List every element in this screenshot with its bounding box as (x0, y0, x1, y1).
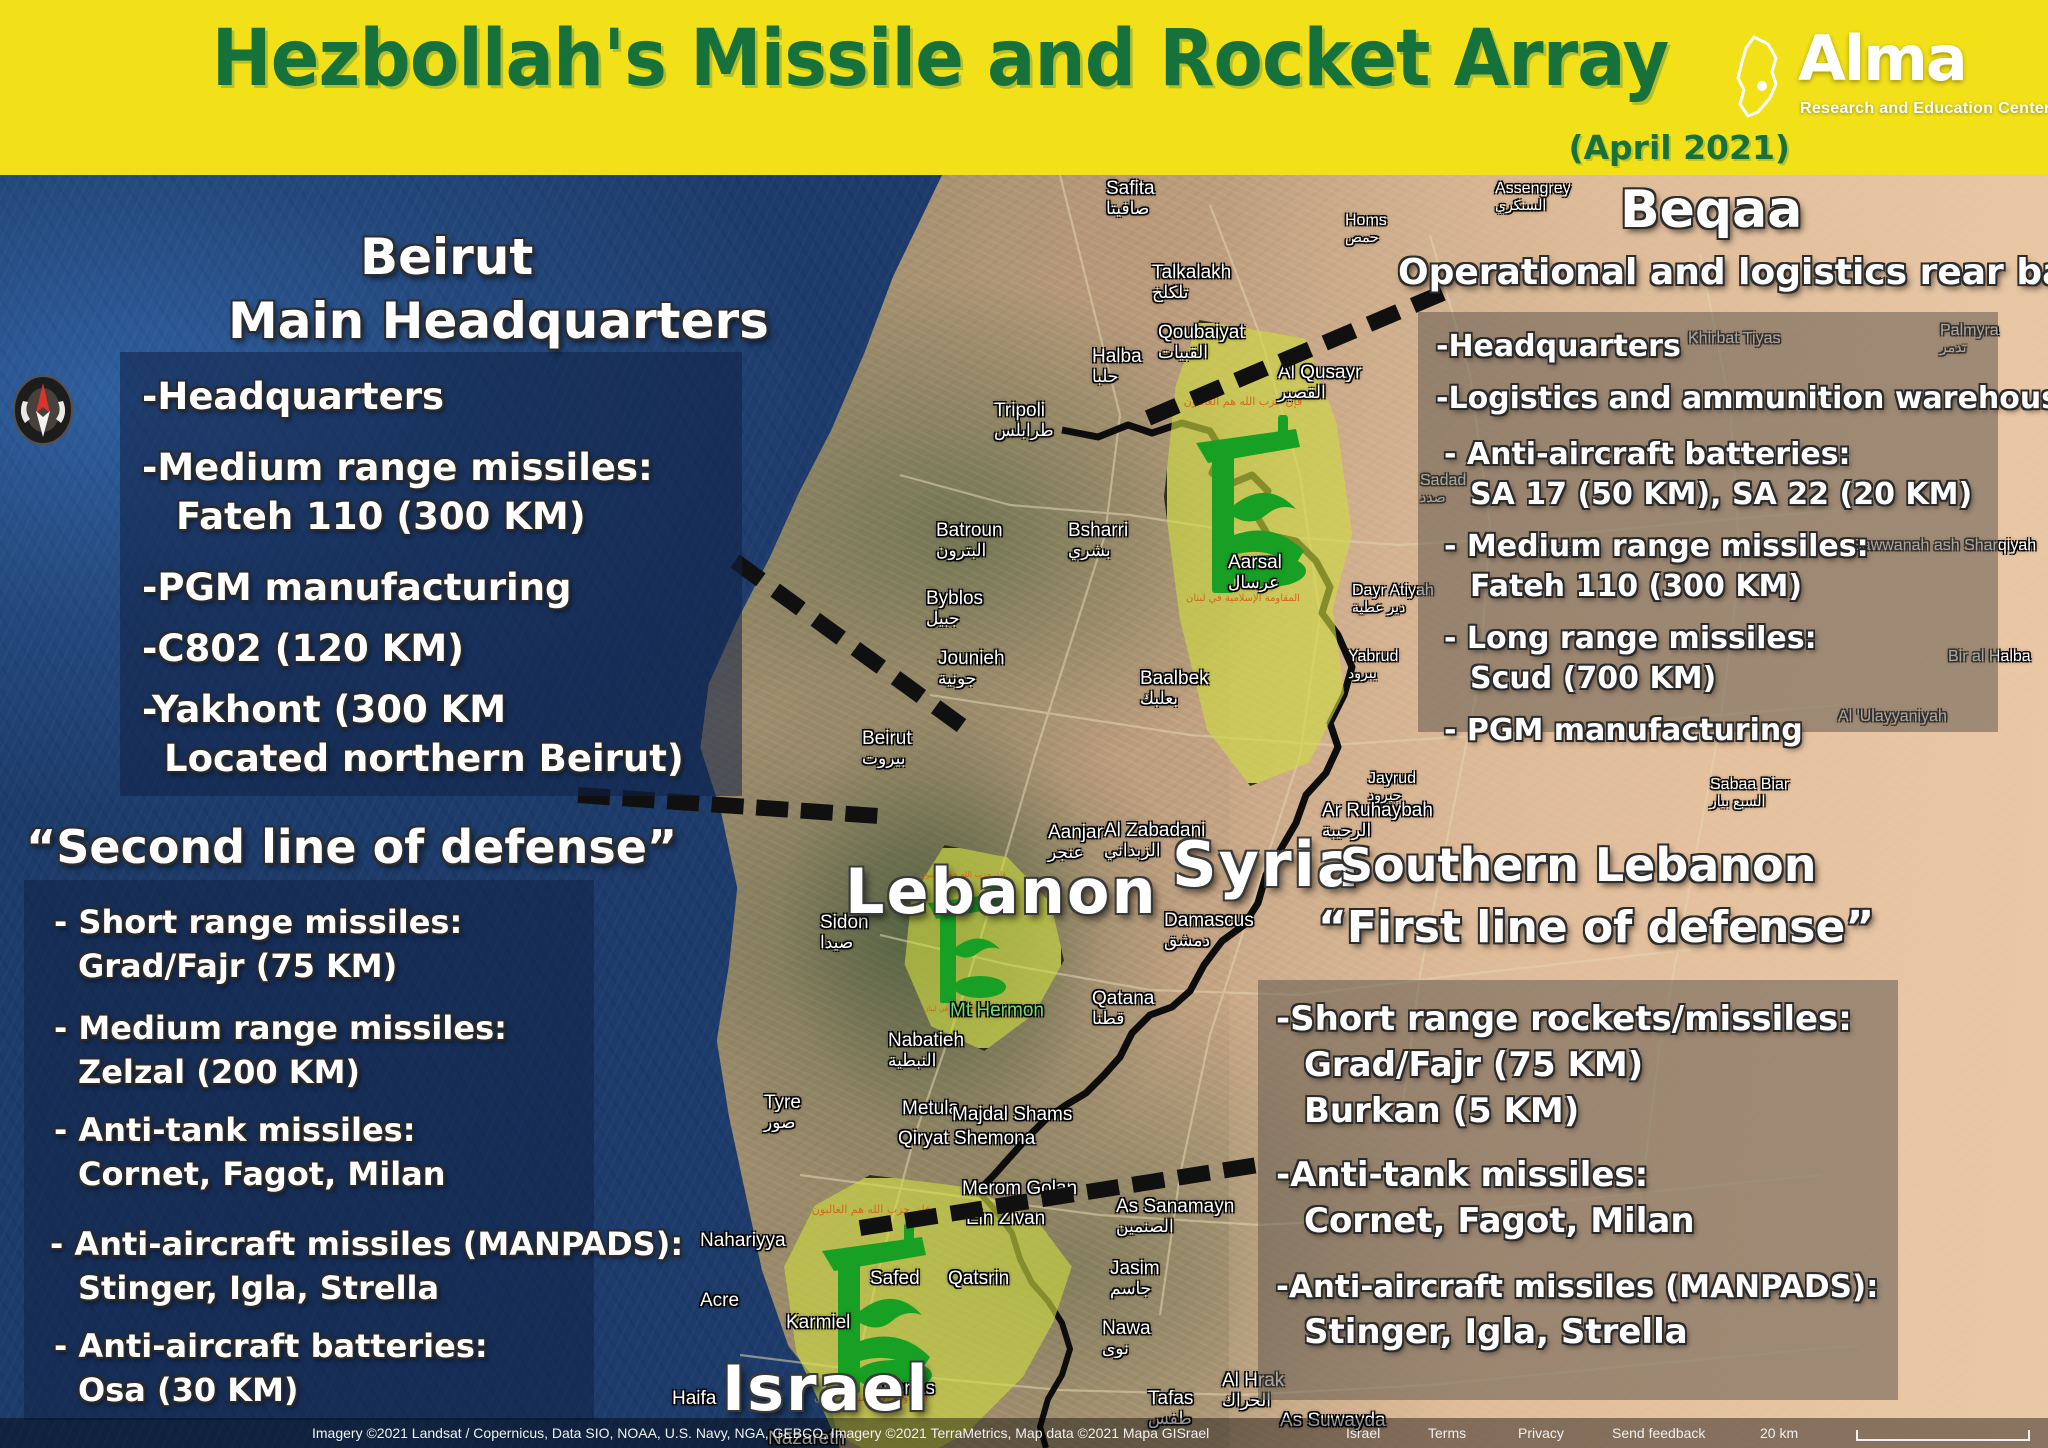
map-label-arabic: الصنمين (1116, 1217, 1234, 1237)
second-line-5: Cornet, Fagot, Milan (44, 1158, 574, 1190)
beqaa-line-4: - Medium range missiles: (1436, 532, 1980, 562)
map-label-latin: Halba (1092, 346, 1142, 367)
map-label-latin: Jounieh (938, 648, 1005, 669)
map-label-arabic: تلكلخ (1152, 283, 1231, 303)
map-label-latin: Nabatieh (888, 1030, 964, 1051)
scale-label: 20 km (1760, 1418, 1798, 1448)
map-label-mt-hermon: Mt Hermon (950, 1000, 1044, 1022)
map-label-al-qusayr: Al Qusayrالقصير (1278, 362, 1361, 403)
beqaa-panel-title-line2: Operational and logistics rear base (1398, 252, 2048, 293)
map-label-arabic: حلبا (1092, 367, 1142, 387)
southern-lebanon-info-box: -Short range rockets/missiles: Grad/Fajr… (1258, 980, 1898, 1400)
map-label-arabic: بعلبك (1140, 689, 1209, 709)
map-label-latin: Talkalakh (1152, 262, 1231, 283)
beqaa-panel-title-line1: Beqaa (1620, 180, 1802, 240)
southern-lebanon-line-6: Stinger, Igla, Strella (1276, 1315, 1880, 1349)
map-label-latin: Metula (902, 1098, 959, 1119)
map-label-qatana: Qatanaقطنا (1092, 988, 1154, 1029)
attribution-link-send-feedback[interactable]: Send feedback (1612, 1418, 1705, 1448)
map-label-arabic: طرابلس (994, 421, 1054, 441)
map-label-batroun: Batrounالبترون (936, 520, 1003, 561)
beqaa-line-6: - Long range missiles: (1436, 624, 1980, 654)
map-label-arabic: صور (764, 1113, 801, 1133)
map-label-latin: Damascus (1164, 910, 1254, 931)
map-label-jayrud: Jayrudجيرود (1368, 770, 1416, 804)
second-line-3: Zelzal (200 KM) (44, 1056, 574, 1088)
map-label-arabic: القصير (1278, 383, 1361, 403)
map-label-arabic: السنكري (1495, 197, 1571, 214)
alma-logo: Alma Research and Education Center (1724, 26, 2024, 144)
map-attribution-bar: Imagery ©2021 Landsat / Copernicus, Data… (0, 1418, 2048, 1448)
alma-tagline: Research and Education Center (1800, 100, 2048, 118)
map-label-arabic: جاسم (1110, 1279, 1160, 1299)
compass-icon[interactable] (12, 373, 74, 447)
map-label-latin: Nawa (1102, 1318, 1151, 1339)
beqaa-info-box: -Headquarters -Logistics and ammunition … (1418, 312, 1998, 732)
map-label-damascus: Damascusدمشق (1164, 910, 1254, 951)
map-label-latin: Ar Ruhaybah (1322, 800, 1433, 821)
attribution-link-israel[interactable]: Israel (1346, 1418, 1380, 1448)
map-label-aarsal: Aarsalعرسال (1228, 552, 1282, 593)
infographic-map: Hezbollah's Missile and Rocket Array (Ap… (0, 0, 2048, 1448)
southern-lebanon-line-2: Burkan (5 KM) (1276, 1094, 1880, 1128)
map-label-arabic: قطنا (1092, 1009, 1154, 1029)
beqaa-line-0: -Headquarters (1436, 332, 1980, 362)
map-label-arabic: السبع بيار (1710, 793, 1789, 810)
map-label-latin: Haifa (672, 1388, 716, 1409)
southern-lebanon-panel-title-line1: Southern Lebanon (1340, 838, 1816, 892)
map-label-beirut: Beirutبيروت (862, 728, 912, 769)
map-label-arabic: جونية (938, 669, 1005, 689)
southern-lebanon-panel-title-line2: “First line of defense” (1318, 902, 1874, 953)
map-label-latin: Safita (1106, 178, 1155, 199)
beqaa-line-3: SA 17 (50 KM), SA 22 (20 KM) (1436, 480, 1980, 510)
map-label-latin: Batroun (936, 520, 1003, 541)
second-line-4: - Anti-tank missiles: (44, 1114, 574, 1146)
map-label-safita: Safitaصافيتا (1106, 178, 1155, 219)
second-line-0: - Short range missiles: (44, 906, 574, 938)
southern-lebanon-line-1: Grad/Fajr (75 KM) (1276, 1048, 1880, 1082)
map-label-arabic: حمص (1345, 229, 1387, 246)
map-label-homs: Homsحمص (1345, 212, 1387, 246)
beirut-panel-title-line1: Beirut (360, 228, 533, 286)
map-label-latin: Mt Hermon (950, 1000, 1044, 1021)
country-label-israel: Israel (722, 1352, 930, 1425)
map-label-majdal-shams: Majdal Shams (952, 1104, 1072, 1126)
beirut-line-2: Fateh 110 (300 KM) (142, 498, 720, 535)
map-label-nawa: Nawaنوى (1102, 1318, 1151, 1359)
second-line-7: Stinger, Igla, Strella (44, 1272, 574, 1304)
map-label-arabic: جبيل (926, 609, 983, 629)
imagery-attribution: Imagery ©2021 Landsat / Copernicus, Data… (312, 1418, 1209, 1448)
map-label-arabic: دمشق (1164, 931, 1254, 951)
map-label-latin: Baalbek (1140, 668, 1209, 689)
map-label-arabic: بيروت (862, 749, 912, 769)
country-label-syria: Syria (1172, 828, 1361, 901)
map-label-arabic: صافيتا (1106, 199, 1155, 219)
country-label-lebanon: Lebanon (845, 855, 1158, 928)
alma-wordmark: Alma (1798, 28, 1966, 90)
map-label-jasim: Jasimجاسم (1110, 1258, 1160, 1299)
map-label-latin: As Sanamayn (1116, 1196, 1234, 1217)
second-line-9: Osa (30 KM) (44, 1374, 574, 1406)
second-line-2: - Medium range missiles: (44, 1012, 574, 1044)
page-title: Hezbollah's Missile and Rocket Array (75, 14, 1805, 104)
second-line-6: - Anti-aircraft missiles (MANPADS): (44, 1228, 574, 1260)
map-label-arabic: بشري (1068, 541, 1128, 561)
map-label-arabic: البترون (936, 541, 1003, 561)
second-line-info-box: - Short range missiles: Grad/Fajr (75 KM… (24, 880, 594, 1420)
southern-lebanon-line-4: Cornet, Fagot, Milan (1276, 1204, 1880, 1238)
attribution-link-privacy[interactable]: Privacy (1518, 1418, 1564, 1448)
second-line-8: - Anti-aircraft batteries: (44, 1330, 574, 1362)
second-line-panel-title: “Second line of defense” (26, 820, 677, 874)
map-label-latin: Tripoli (994, 400, 1045, 421)
beqaa-line-1: -Logistics and ammunition warehouses (1436, 384, 1980, 414)
beirut-line-4: -C802 (120 KM) (142, 630, 720, 667)
map-label-latin: Qiryat Shemona (898, 1128, 1035, 1149)
map-label-latin: Nahariyya (700, 1230, 786, 1251)
beirut-line-0: -Headquarters (142, 378, 720, 415)
map-label-yabrud: Yabrudيبرود (1348, 648, 1398, 682)
map-label-assengrey: Assengreyالسنكري (1495, 180, 1571, 214)
map-label-metula: Metula (902, 1098, 959, 1120)
map-label-arabic: النبطية (888, 1051, 964, 1071)
map-label-nabatieh: Nabatiehالنبطية (888, 1030, 964, 1071)
beirut-line-5: -Yakhont (300 KM (142, 691, 720, 728)
map-label-latin: Safed (870, 1268, 920, 1289)
beqaa-line-8: - PGM manufacturing (1436, 716, 1980, 746)
map-label-latin: Aanjar (1048, 822, 1103, 843)
map-label-latin: Assengrey (1495, 180, 1571, 197)
map-label-latin: Aarsal (1228, 552, 1282, 573)
map-label-latin: Qatana (1092, 988, 1154, 1009)
map-label-sabaa-biar: Sabaa Biarالسبع بيار (1710, 776, 1789, 810)
attribution-link-terms[interactable]: Terms (1428, 1418, 1466, 1448)
map-label-latin: Jayrud (1368, 770, 1416, 787)
map-label-nahariyya: Nahariyya (700, 1230, 786, 1252)
map-label-latin: Tyre (764, 1092, 801, 1113)
map-label-halba: Halbaحلبا (1092, 346, 1142, 387)
map-label-bsharri: Bsharriبشري (1068, 520, 1128, 561)
map-label-qiryat-shemona: Qiryat Shemona (898, 1128, 1035, 1150)
map-label-latin: Sabaa Biar (1710, 776, 1789, 793)
map-label-safed: Safed (870, 1268, 920, 1290)
map-label-latin: Majdal Shams (952, 1104, 1072, 1125)
map-label-arabic: القبيات (1158, 343, 1245, 363)
beqaa-line-7: Scud (700 KM) (1436, 664, 1980, 694)
beqaa-line-5: Fateh 110 (300 KM) (1436, 572, 1980, 602)
map-label-baalbek: Baalbekبعلبك (1140, 668, 1209, 709)
beqaa-line-2: - Anti-aircraft batteries: (1436, 440, 1980, 470)
southern-lebanon-line-0: -Short range rockets/missiles: (1276, 1002, 1880, 1036)
map-label-haifa: Haifa (672, 1388, 716, 1410)
publication-date: (April 2021) (0, 128, 1790, 167)
second-line-1: Grad/Fajr (75 KM) (44, 950, 574, 982)
map-label-latin: Acre (700, 1290, 739, 1311)
map-label-latin: Byblos (926, 588, 983, 609)
map-label-tyre: Tyreصور (764, 1092, 801, 1133)
beirut-line-3: -PGM manufacturing (142, 569, 720, 606)
map-label-byblos: Byblosجبيل (926, 588, 983, 629)
map-label-latin: Qoubaiyat (1158, 322, 1245, 343)
southern-lebanon-line-5: -Anti-aircraft missiles (MANPADS): (1276, 1272, 1880, 1303)
map-label-arabic: صيدا (820, 933, 869, 953)
map-label-arabic: عرسال (1228, 573, 1282, 593)
beirut-line-1: -Medium range missiles: (142, 449, 720, 486)
map-label-karmiel: Karmiel (786, 1312, 850, 1334)
map-label-acre: Acre (700, 1290, 739, 1312)
map-label-latin: Qatsrin (948, 1268, 1009, 1289)
map-label-latin: Karmiel (786, 1312, 850, 1333)
scale-bar (1856, 1430, 2030, 1441)
map-label-tripoli: Tripoliطرابلس (994, 400, 1054, 441)
map-label-qoubaiyat: Qoubaiyatالقبيات (1158, 322, 1245, 363)
map-label-latin: Jasim (1110, 1258, 1160, 1279)
map-label-latin: Beirut (862, 728, 912, 749)
southern-lebanon-line-3: -Anti-tank missiles: (1276, 1158, 1880, 1192)
map-label-talkalakh: Talkalakhتلكلخ (1152, 262, 1231, 303)
alma-map-outline-icon (1724, 34, 1796, 120)
map-label-arabic: يبرود (1348, 665, 1398, 682)
map-label-latin: Homs (1345, 212, 1387, 229)
beirut-panel-title-line2: Main Headquarters (228, 292, 769, 350)
map-label-latin: Bsharri (1068, 520, 1128, 541)
beirut-info-box: -Headquarters -Medium range missiles: Fa… (120, 352, 742, 796)
map-label-latin: Tafas (1148, 1388, 1193, 1409)
title-banner: Hezbollah's Missile and Rocket Array (Ap… (0, 0, 2048, 175)
beirut-line-6: Located northern Beirut) (142, 740, 720, 777)
map-label-as-sanamayn: As Sanamaynالصنمين (1116, 1196, 1234, 1237)
map-label-latin: Yabrud (1348, 648, 1398, 665)
map-label-arabic: نوى (1102, 1339, 1151, 1359)
map-label-jounieh: Jouniehجونية (938, 648, 1005, 689)
map-label-qatsrin: Qatsrin (948, 1268, 1009, 1290)
